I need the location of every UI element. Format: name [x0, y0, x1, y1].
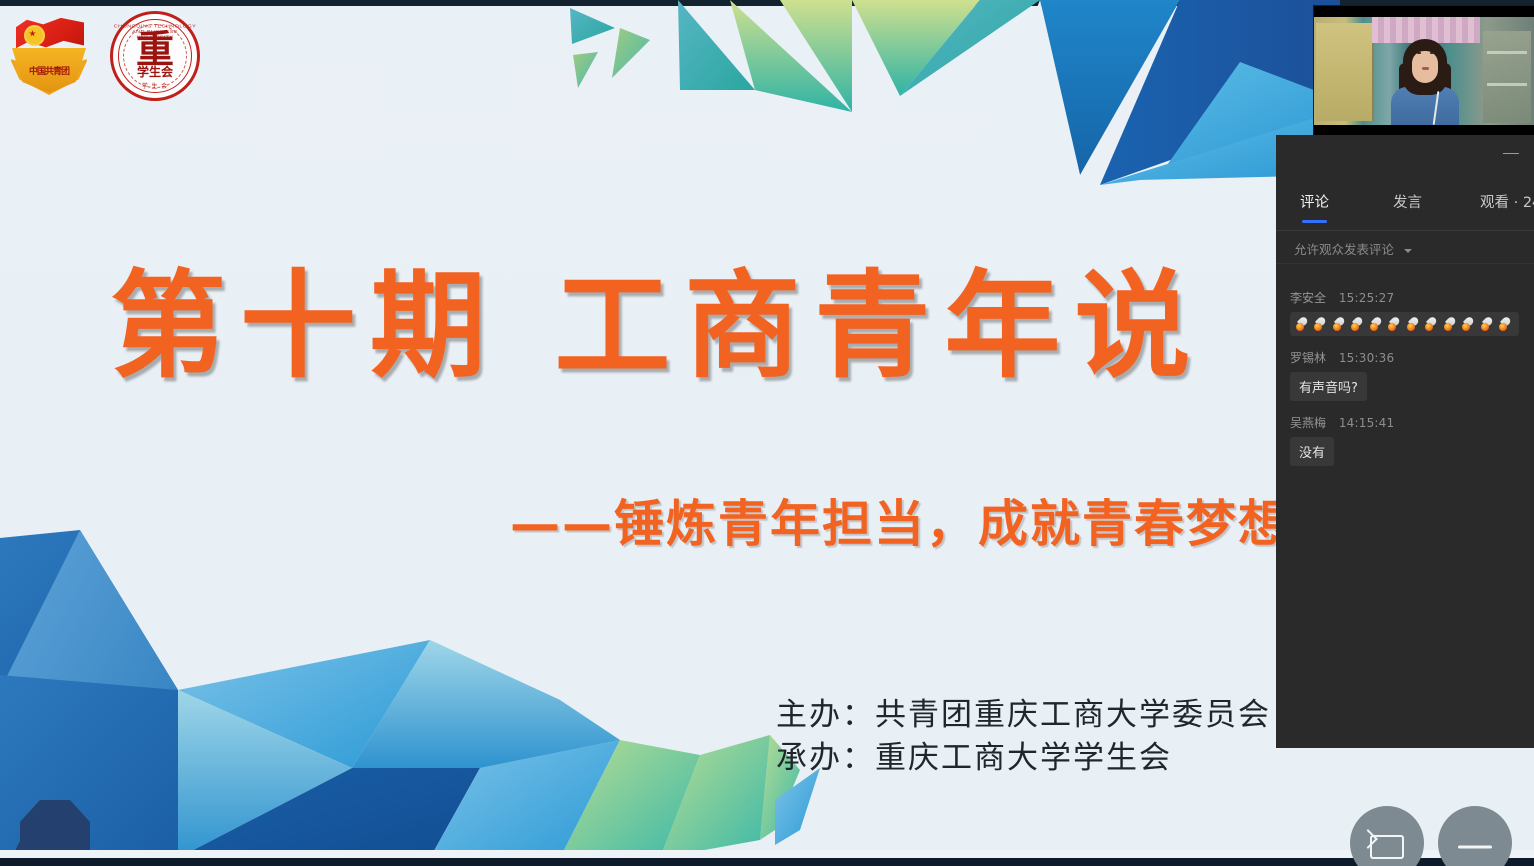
- rocket-emoji-icon: [1425, 317, 1437, 331]
- credits-host: 承办：重庆工商大学学生会: [776, 737, 1271, 780]
- video-person: [1389, 39, 1461, 125]
- logo-cyl-text: 中国共青团: [20, 64, 78, 77]
- comments-list[interactable]: 李安全 15:25:27: [1276, 275, 1534, 748]
- comment-time: 14:15:41: [1339, 416, 1395, 430]
- list-item: 吴燕梅 14:15:41 没有: [1290, 414, 1520, 466]
- list-item: 罗锡林 15:30:36 有声音吗?: [1290, 349, 1520, 401]
- comments-panel: 评论 发言 观看 · 243 允许观众发表评论 李安全 15:25:27: [1276, 135, 1534, 748]
- minimize-panel-button[interactable]: [1500, 145, 1522, 163]
- comment-text: 没有: [1290, 437, 1334, 466]
- allow-comments-dropdown[interactable]: 允许观众发表评论: [1294, 239, 1412, 258]
- live-stream-window: 中国共青团 CHONGQING TECHNOLOGY AND BUSINESS …: [0, 0, 1534, 866]
- communist-youth-league-emblem-icon: 中国共青团: [10, 15, 88, 97]
- rocket-emoji-icon: [1407, 317, 1419, 331]
- video-bg-shelf: [1483, 31, 1531, 123]
- rocket-emoji-icon: [1462, 317, 1474, 331]
- presenter-video-thumbnail[interactable]: [1313, 5, 1534, 138]
- rocket-emoji-icon: [1499, 317, 1511, 331]
- credits-organizer: 主办：共青团重庆工商大学委员会: [776, 694, 1271, 737]
- comment-meta: 李安全 15:25:27: [1290, 289, 1520, 306]
- comment-emoji-bubble: [1290, 312, 1519, 336]
- chevron-down-icon: [1404, 249, 1412, 253]
- comment-text: 有声音吗?: [1290, 372, 1367, 401]
- list-item: 李安全 15:25:27: [1290, 289, 1520, 336]
- comment-meta: 吴燕梅 14:15:41: [1290, 414, 1520, 431]
- video-frame: [1314, 17, 1534, 125]
- slide-bottom-border: [0, 850, 1534, 858]
- rocket-emoji-icon: [1444, 317, 1456, 331]
- logo-su-sub: 学生会: [113, 63, 197, 80]
- logo-group: 中国共青团 CHONGQING TECHNOLOGY AND BUSINESS …: [10, 10, 210, 102]
- comment-meta: 罗锡林 15:30:36: [1290, 349, 1520, 366]
- logo-su-arc-bottom: 学 生 会: [113, 81, 197, 90]
- rocket-emoji-icon: [1314, 317, 1326, 331]
- tab-viewers[interactable]: 观看 · 243: [1480, 191, 1534, 212]
- rocket-emoji-icon: [1333, 317, 1345, 331]
- allow-comments-divider: [1276, 263, 1534, 264]
- slide-background-polygons-top: [540, 0, 1340, 230]
- comment-time: 15:25:27: [1339, 291, 1395, 305]
- comment-time: 15:30:36: [1339, 351, 1395, 365]
- comment-author: 李安全: [1290, 291, 1326, 305]
- allow-comments-label: 允许观众发表评论: [1294, 242, 1394, 257]
- tabs-divider: [1276, 230, 1534, 231]
- rocket-emoji-icon: [1388, 317, 1400, 331]
- video-bg-door: [1316, 23, 1374, 121]
- comment-author: 吴燕梅: [1290, 416, 1326, 430]
- slide-subtitle: ——锤炼青年担当，成就青春梦想: [470, 484, 1290, 556]
- comment-author: 罗锡林: [1290, 351, 1326, 365]
- tab-speak[interactable]: 发言: [1393, 191, 1422, 212]
- share-screen-icon: [1370, 835, 1404, 859]
- rocket-emoji-icon: [1370, 317, 1382, 331]
- more-options-icon: [1458, 846, 1492, 849]
- student-union-seal-icon: CHONGQING TECHNOLOGY AND BUSINESS UNIVER…: [110, 11, 200, 101]
- rocket-emoji-icon: [1296, 317, 1308, 331]
- panel-tabs: 评论 发言 观看 · 243: [1276, 183, 1534, 219]
- rocket-emoji-icon: [1351, 317, 1363, 331]
- rocket-emoji-icon: [1481, 317, 1493, 331]
- slide-title: 第十期 工商青年说: [110, 266, 1250, 388]
- tab-comments[interactable]: 评论: [1300, 191, 1329, 212]
- slide-credits: 主办：共青团重庆工商大学委员会 承办：重庆工商大学学生会: [776, 694, 1271, 780]
